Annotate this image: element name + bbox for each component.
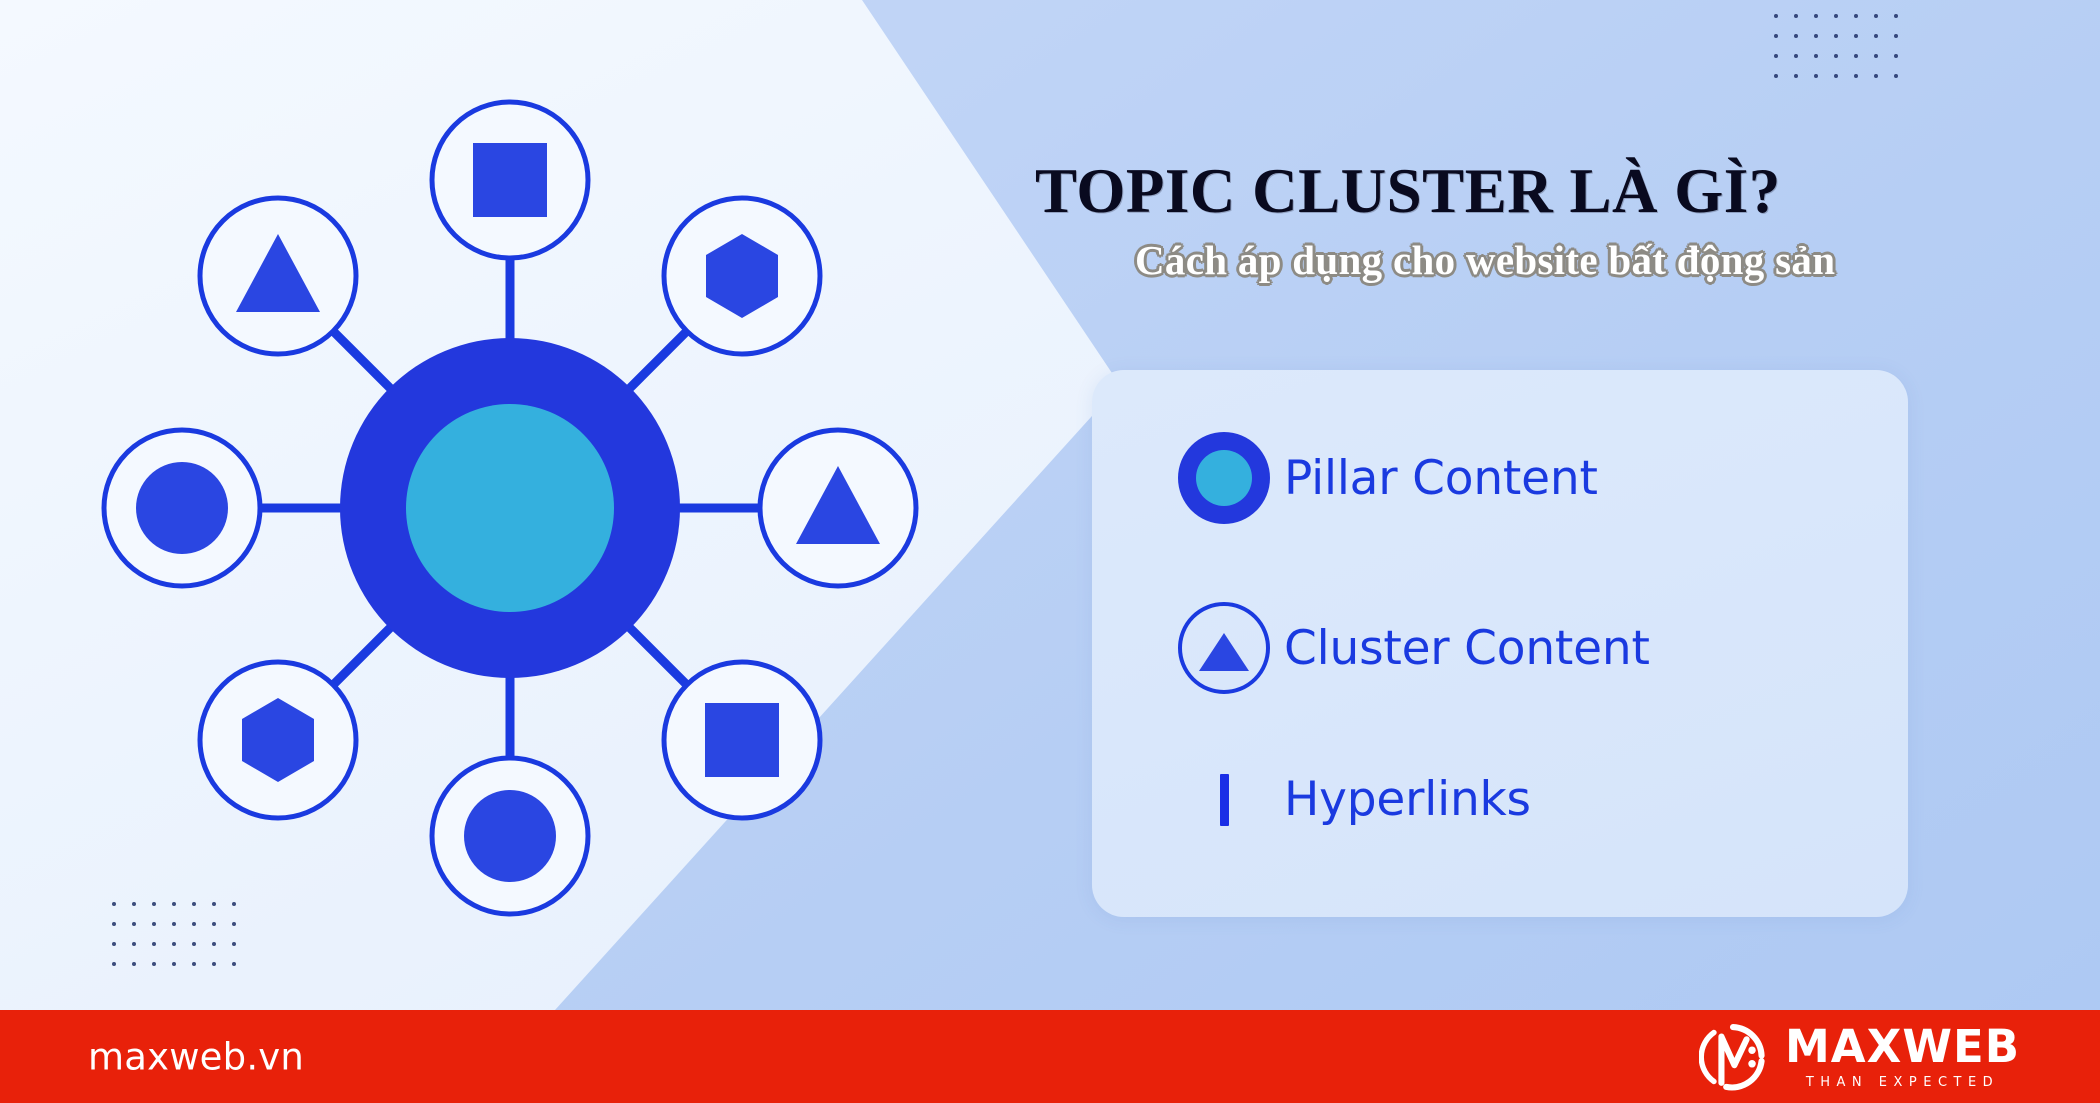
- pillar-content-hub: [340, 338, 680, 678]
- cluster-node-bottom-right: [664, 662, 820, 818]
- link-top-left: [333, 331, 391, 389]
- link-bottom-left: [333, 627, 391, 685]
- infographic-canvas: TOPIC CLUSTER LÀ GÌ? Cách áp dụng cho we…: [0, 0, 2100, 1103]
- dot-grid-top-right: [1774, 14, 1914, 94]
- square-icon: [705, 703, 779, 777]
- hyperlink-icon: [1164, 774, 1284, 826]
- legend-label-pillar-content: Pillar Content: [1284, 451, 1598, 506]
- cluster-node-top: [432, 102, 588, 258]
- legend-item-cluster-content: Cluster Content: [1164, 602, 1650, 694]
- circle-icon: [464, 790, 556, 882]
- brand-lockup: MAXWEB THAN EXPECTED: [1699, 1023, 2020, 1091]
- cluster-node-bottom-left: [200, 662, 356, 818]
- cluster-node-bottom: [432, 758, 588, 914]
- cluster-node-left: [104, 430, 260, 586]
- brand-name: MAXWEB: [1785, 1024, 2020, 1069]
- link-bottom-right: [629, 627, 687, 685]
- circle-icon: [136, 462, 228, 554]
- page-subtitle: Cách áp dụng cho website bất động sản: [1135, 236, 1835, 284]
- link-top-right: [629, 331, 687, 389]
- page-title: TOPIC CLUSTER LÀ GÌ?: [1035, 155, 1781, 228]
- pillar-core: [406, 404, 614, 612]
- cluster-node-right: [760, 430, 916, 586]
- square-icon: [473, 143, 547, 217]
- brand-tagline: THAN EXPECTED: [1785, 1076, 2020, 1089]
- topic-cluster-diagram: [90, 88, 930, 928]
- cluster-content-icon: [1164, 602, 1284, 694]
- legend-card: Pillar Content Cluster Content Hyperlink…: [1092, 370, 1908, 917]
- legend-item-pillar-content: Pillar Content: [1164, 432, 1598, 524]
- cluster-node-top-right: [664, 198, 820, 354]
- legend-label-hyperlinks: Hyperlinks: [1284, 772, 1531, 827]
- legend-item-hyperlinks: Hyperlinks: [1164, 772, 1531, 827]
- cluster-node-top-left: [200, 198, 356, 354]
- legend-label-cluster-content: Cluster Content: [1284, 621, 1650, 676]
- maxweb-logo-icon: [1699, 1023, 1767, 1091]
- pillar-content-icon: [1164, 432, 1284, 524]
- footer-domain: maxweb.vn: [88, 1035, 304, 1078]
- footer-bar: maxweb.vn MAXWEB THAN EXPECTED: [0, 1010, 2100, 1103]
